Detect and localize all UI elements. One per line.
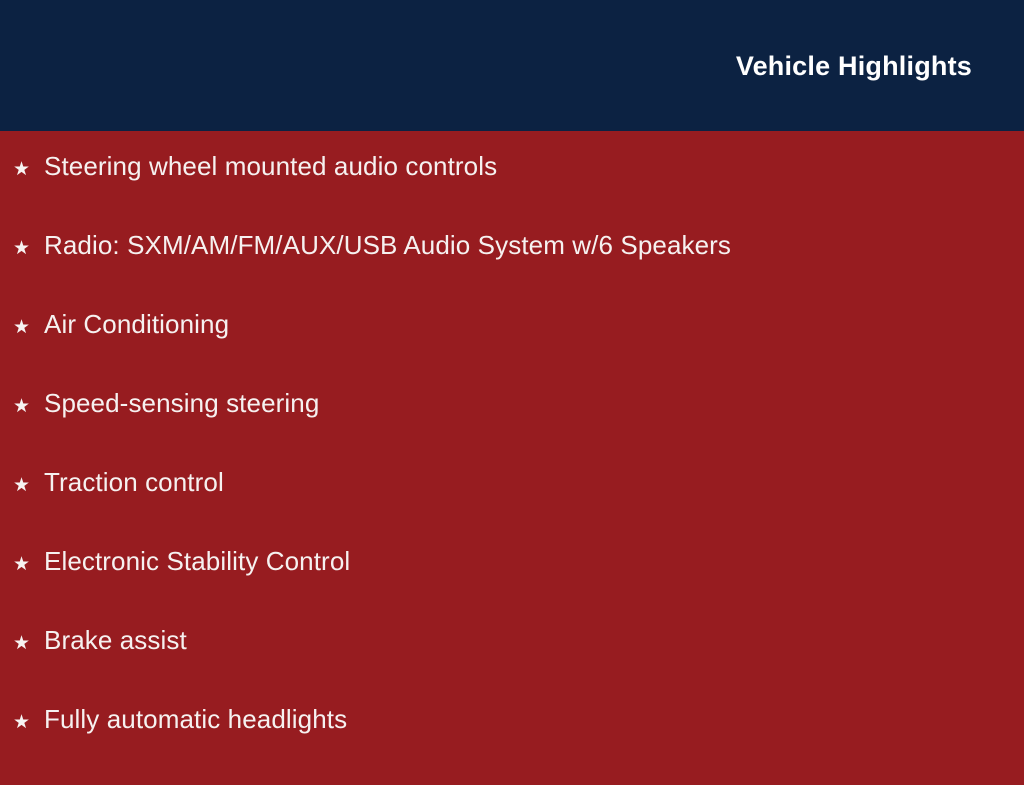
list-item: ★ Radio: SXM/AM/FM/AUX/USB Audio System …	[0, 232, 1024, 311]
highlight-label: Brake assist	[44, 627, 187, 653]
list-item: ★ Traction control	[0, 469, 1024, 548]
list-item: ★ Air Conditioning	[0, 311, 1024, 390]
list-item: ★ Speed-sensing steering	[0, 390, 1024, 469]
highlight-label: Steering wheel mounted audio controls	[44, 153, 497, 179]
list-item: ★ Fully automatic headlights	[0, 706, 1024, 785]
slide-body: ★ Steering wheel mounted audio controls …	[0, 131, 1024, 768]
list-item: ★ Brake assist	[0, 627, 1024, 706]
highlight-label: Fully automatic headlights	[44, 706, 347, 732]
star-icon: ★	[13, 318, 44, 337]
highlight-label: Speed-sensing steering	[44, 390, 319, 416]
list-item: ★ Electronic Stability Control	[0, 548, 1024, 627]
star-icon: ★	[13, 239, 44, 258]
highlight-label: Air Conditioning	[44, 311, 229, 337]
highlight-label: Electronic Stability Control	[44, 548, 350, 574]
vehicle-highlights-slide: Vehicle Highlights ★ Steering wheel moun…	[0, 0, 1024, 768]
page-title: Vehicle Highlights	[736, 53, 972, 80]
highlight-label: Traction control	[44, 469, 224, 495]
star-icon: ★	[13, 476, 44, 495]
highlight-label: Radio: SXM/AM/FM/AUX/USB Audio System w/…	[44, 232, 731, 258]
vehicle-highlights-list: ★ Steering wheel mounted audio controls …	[0, 153, 1024, 785]
star-icon: ★	[13, 713, 44, 732]
list-item: ★ Steering wheel mounted audio controls	[0, 153, 1024, 232]
star-icon: ★	[13, 634, 44, 653]
star-icon: ★	[13, 397, 44, 416]
slide-header: Vehicle Highlights	[0, 0, 1024, 131]
star-icon: ★	[13, 555, 44, 574]
star-icon: ★	[13, 160, 44, 179]
